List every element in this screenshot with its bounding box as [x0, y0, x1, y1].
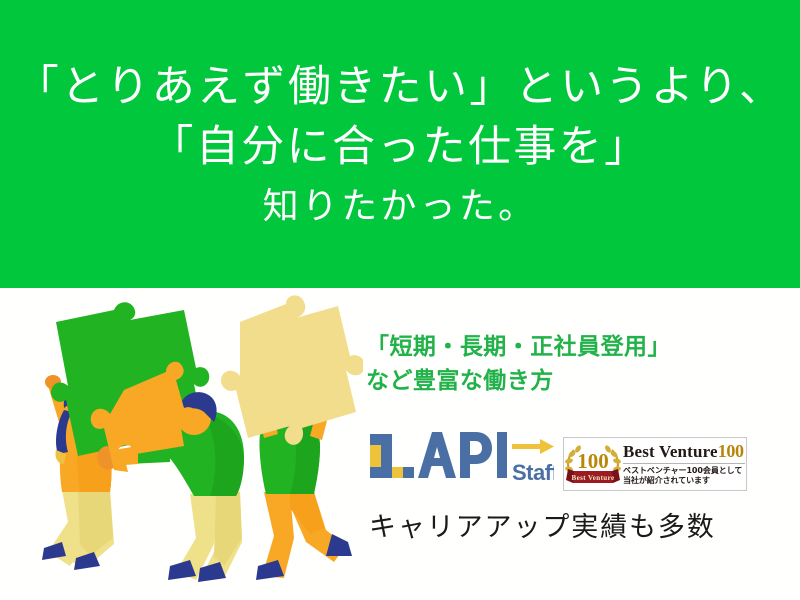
- headline-block: 「とりあえず働きたい」というより、 「自分に合った仕事を」 知りたかった。: [0, 0, 800, 288]
- badge-year: 2024年: [746, 468, 747, 485]
- svg-text:100: 100: [577, 449, 609, 473]
- logo-row: Staff: [366, 428, 786, 490]
- logo-arrow-icon: [512, 439, 554, 454]
- badge-description-line-1: ベストベンチャー100会員として: [623, 466, 742, 476]
- career-advancement-copy: キャリアアップ実績も多数: [369, 510, 716, 546]
- badge-description-line-2: 当社が紹介されています: [623, 476, 742, 486]
- badge-description: ベストベンチャー100会員として 当社が紹介されています: [623, 466, 742, 486]
- lower-content-section: 「短期・長期・正社員登用」 など豊富な働き方: [0, 288, 800, 600]
- lapi-staff-logo[interactable]: Staff: [368, 430, 554, 488]
- headline-line-3: 知りたかった。: [263, 178, 538, 236]
- badge-bottom-row: ベストベンチャー100会員として 当社が紹介されています 2024年: [623, 466, 747, 486]
- headline-line-2: 「自分に合った仕事を」: [150, 116, 649, 178]
- badge-title-number: 100: [718, 441, 744, 461]
- badge-title: Best Venture100: [623, 442, 747, 461]
- laurel-wreath-medal-icon: 100 Best Venture: [564, 438, 622, 490]
- copy-column: 「短期・長期・正社員登用」 など豊富な働き方: [366, 288, 786, 600]
- badge-text-block: Best Venture100 ベストベンチャー100会員として 当社が紹介され…: [622, 438, 747, 490]
- employment-types-line-1: 「短期・長期・正社員登用」: [366, 334, 671, 360]
- advertisement-banner: 「とりあえず働きたい」というより、 「自分に合った仕事を」 知りたかった。: [0, 0, 800, 600]
- svg-text:Staff: Staff: [512, 460, 554, 485]
- badge-divider: [623, 463, 745, 464]
- logo-l-blocks: [370, 434, 414, 478]
- employment-types-line-2: など豊富な働き方: [366, 364, 671, 398]
- best-venture-100-badge: 100 Best Venture Best Venture100: [563, 437, 747, 491]
- headline-line-1: 「とりあえず働きたい」というより、: [16, 58, 785, 116]
- svg-text:Best Venture: Best Venture: [572, 474, 615, 482]
- teamwork-puzzle-illustration: [18, 294, 363, 594]
- employment-types-copy: 「短期・長期・正社員登用」 など豊富な働き方: [366, 330, 671, 398]
- badge-title-main: Best Venture: [623, 442, 718, 461]
